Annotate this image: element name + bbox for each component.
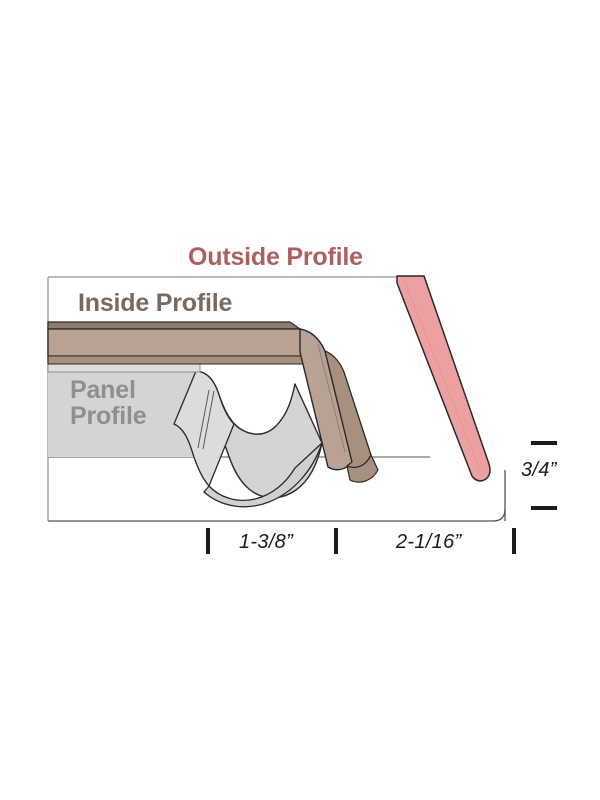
outside-profile-highlight [404,280,480,470]
inside-profile-main-face [48,329,318,356]
inside-profile-lower-band [48,356,322,364]
tick-thickness-bottom [531,506,557,510]
tick-thickness-top [531,441,557,445]
tick-middle [334,528,338,554]
tick-left [206,528,210,554]
profile-diagram-page: Outside Profile Inside Profile Panel Pro… [0,0,600,800]
panel-profile-label-line1: Panel [70,377,146,403]
guide-corner-bottom-right [493,509,505,521]
panel-profile-label-line2: Profile [70,403,146,429]
inside-profile-top-cap [48,322,300,329]
outside-profile-label: Outside Profile [188,244,363,270]
dimension-inside-width: 1-3/8” [239,531,293,554]
tick-right [512,528,516,554]
panel-profile-top-reveal [48,364,200,372]
dimension-outside-width: 2-1/16” [396,531,461,554]
dimension-thickness: 3/4” [521,459,557,482]
inside-profile-label: Inside Profile [78,290,232,316]
outside-profile-shape [397,276,490,481]
panel-profile-label: Panel Profile [70,377,146,430]
